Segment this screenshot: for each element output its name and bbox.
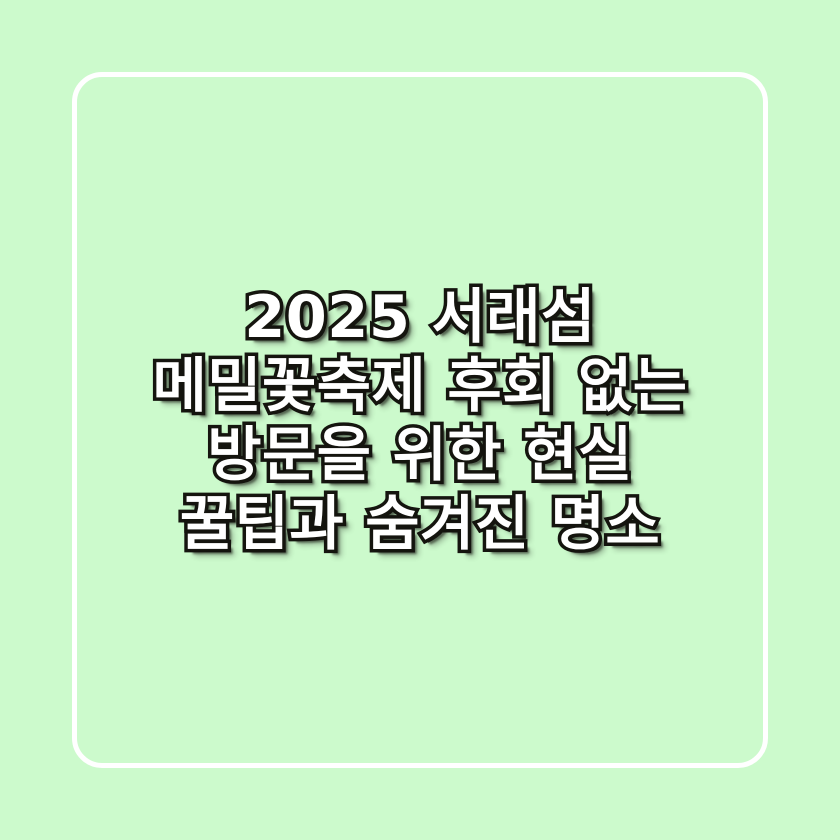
title-block: 2025 서래섬 메밀꽃축제 후회 없는 방문을 위한 현실 꿀팁과 숨겨진 명…: [0, 0, 840, 840]
title-line-2: 메밀꽃축제 후회 없는: [70, 351, 770, 420]
title-line-3: 방문을 위한 현실: [70, 420, 770, 489]
title-line-4: 꿀팁과 숨겨진 명소: [70, 489, 770, 558]
title-line-1: 2025 서래섬: [70, 282, 770, 351]
thumbnail-card: 2025 서래섬 메밀꽃축제 후회 없는 방문을 위한 현실 꿀팁과 숨겨진 명…: [0, 0, 840, 840]
